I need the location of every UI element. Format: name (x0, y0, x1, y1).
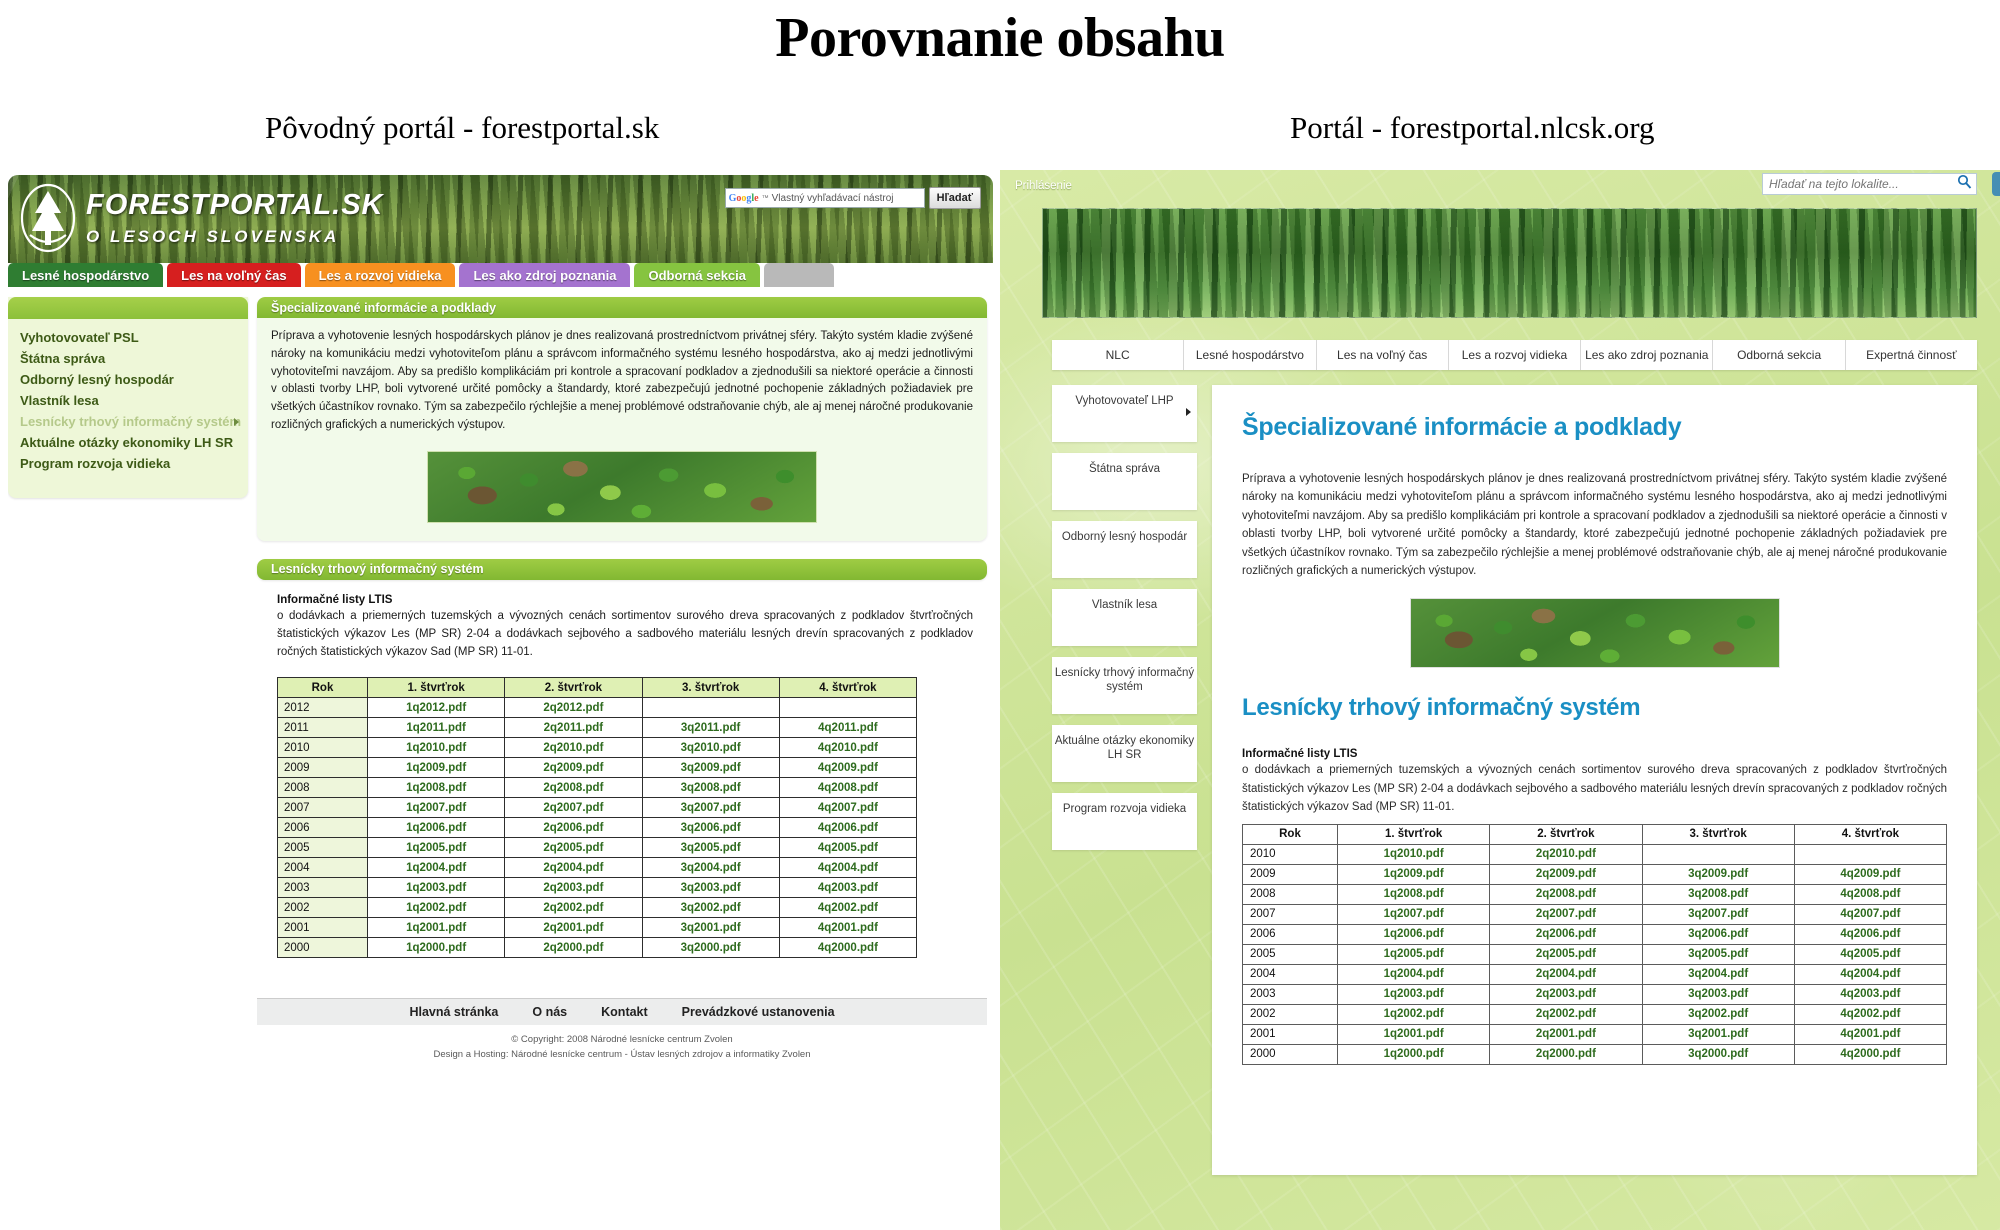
pdf-link[interactable]: 4q2001.pdf (1794, 1024, 1946, 1044)
new-nav-tab-3[interactable]: Les na voľný čas (1317, 340, 1449, 370)
pdf-link[interactable]: 3q2003.pdf (642, 878, 779, 898)
table-row: 20071q2007.pdf2q2007.pdf3q2007.pdf4q2007… (1243, 904, 1947, 924)
pdf-link[interactable]: 4q2008.pdf (779, 778, 916, 798)
pdf-link[interactable]: 3q2005.pdf (1642, 944, 1794, 964)
pdf-link[interactable]: 1q2006.pdf (1338, 924, 1490, 944)
pdf-link[interactable]: 2q2010.pdf (505, 738, 642, 758)
pdf-link[interactable]: 2q2005.pdf (1490, 944, 1642, 964)
google-search-placeholder: Vlastný vyhľadávací nástroj (772, 193, 894, 204)
pdf-link[interactable]: 3q2008.pdf (1642, 884, 1794, 904)
table-row: 20081q2008.pdf2q2008.pdf3q2008.pdf4q2008… (1243, 884, 1947, 904)
logo-title: FORESTPORTAL.SK (86, 191, 384, 220)
table-row: 20031q2003.pdf2q2003.pdf3q2003.pdf4q2003… (1243, 984, 1947, 1004)
pdf-link[interactable]: 1q2000.pdf (368, 938, 505, 958)
table-row: 20111q2011.pdf2q2011.pdf3q2011.pdf4q2011… (278, 718, 917, 738)
year-cell: 2004 (1243, 964, 1338, 984)
sidebar-item-label: Lesnícky trhový informačný systém (20, 414, 241, 429)
table-row: 20031q2003.pdf2q2003.pdf3q2003.pdf4q2003… (278, 878, 917, 898)
empty-cell (642, 698, 779, 718)
pdf-link[interactable]: 3q2009.pdf (642, 758, 779, 778)
pdf-link[interactable]: 2q2008.pdf (505, 778, 642, 798)
pdf-link[interactable]: 4q2006.pdf (1794, 924, 1946, 944)
year-cell: 2006 (278, 818, 368, 838)
new-sidebar-item-4[interactable]: Vlastník lesa (1052, 589, 1197, 646)
logo-subtitle: O LESOCH SLOVENSKA (86, 228, 384, 245)
pdf-link[interactable]: 2q2003.pdf (1490, 984, 1642, 1004)
new-col-header-4: 3. štvrťrok (1642, 824, 1794, 844)
pdf-link[interactable]: 2q2008.pdf (1490, 884, 1642, 904)
new-sidebar-item-2[interactable]: Štátna správa (1052, 453, 1197, 510)
pdf-link[interactable]: 1q2011.pdf (368, 718, 505, 738)
footer-links: Hlavná stránkaO násKontaktPrevádzkové us… (257, 999, 987, 1025)
year-cell: 2009 (278, 758, 368, 778)
page-edge-marker (1992, 172, 2000, 196)
year-cell: 2001 (1243, 1024, 1338, 1044)
pdf-link[interactable]: 2q2002.pdf (505, 898, 642, 918)
year-cell: 2008 (1243, 884, 1338, 904)
new-sidebar-item-6[interactable]: Aktuálne otázky ekonomiky LH SR (1052, 725, 1197, 782)
table-row: 20061q2006.pdf2q2006.pdf3q2006.pdf4q2006… (1243, 924, 1947, 944)
pdf-link[interactable]: 3q2004.pdf (1642, 964, 1794, 984)
old-portal-nav: Lesné hospodárstvoLes na voľný časLes a … (8, 263, 993, 287)
year-cell: 2003 (278, 878, 368, 898)
pdf-link[interactable]: 2q2000.pdf (1490, 1044, 1642, 1064)
sidebar-item-label: Štátna správa (20, 351, 105, 366)
pdf-link[interactable]: 3q2001.pdf (642, 918, 779, 938)
pdf-link[interactable]: 4q2003.pdf (779, 878, 916, 898)
new-col-header-3: 2. štvrťrok (1490, 824, 1642, 844)
pdf-link[interactable]: 4q2002.pdf (1794, 1004, 1946, 1024)
pdf-link[interactable]: 2q2001.pdf (505, 918, 642, 938)
ltis-table-old: Rok1. štvrťrok2. štvrťrok3. štvrťrok4. š… (277, 677, 917, 958)
year-cell: 2009 (1243, 864, 1338, 884)
pdf-link[interactable]: 1q2007.pdf (1338, 904, 1490, 924)
new-portal-screenshot: Prihlásenie NLCLesné hospodárstvoLes na … (1000, 170, 2000, 1230)
sidebar-item-label: Odborný lesný hospodár (20, 372, 174, 387)
year-cell: 2010 (1243, 844, 1338, 864)
pdf-link[interactable]: 2q2003.pdf (505, 878, 642, 898)
ltis-paragraph-new: o dodávkach a priemerných tuzemských a v… (1242, 761, 1947, 816)
pdf-link[interactable]: 1q2009.pdf (1338, 864, 1490, 884)
pdf-link[interactable]: 2q2004.pdf (1490, 964, 1642, 984)
table-row: 20021q2002.pdf2q2002.pdf3q2002.pdf4q2002… (278, 898, 917, 918)
new-sidebar-item-label: Vyhotovovateľ LHP (1075, 394, 1173, 408)
new-sidebar-item-label: Aktuálne otázky ekonomiky LH SR (1052, 734, 1197, 763)
pdf-link[interactable]: 2q2007.pdf (505, 798, 642, 818)
year-cell: 2002 (1243, 1004, 1338, 1024)
sidebar-cap (8, 297, 248, 319)
pdf-link[interactable]: 1q2008.pdf (1338, 884, 1490, 904)
new-nav-tab-1[interactable]: NLC (1052, 340, 1184, 370)
table-row: 20001q2000.pdf2q2000.pdf3q2000.pdf4q2000… (1243, 1044, 1947, 1064)
pdf-link[interactable]: 1q2008.pdf (368, 778, 505, 798)
pdf-link[interactable]: 3q2011.pdf (642, 718, 779, 738)
table-row: 20091q2009.pdf2q2009.pdf3q2009.pdf4q2009… (278, 758, 917, 778)
new-nav-tab-2[interactable]: Lesné hospodárstvo (1184, 340, 1316, 370)
pdf-link[interactable]: 3q2006.pdf (642, 818, 779, 838)
new-sidebar-item-7[interactable]: Program rozvoja vidieka (1052, 793, 1197, 850)
new-portal-nav: NLCLesné hospodárstvoLes na voľný časLes… (1052, 340, 1977, 370)
pdf-link[interactable]: 2q2006.pdf (505, 818, 642, 838)
year-cell: 2005 (278, 838, 368, 858)
pdf-link[interactable]: 3q2003.pdf (1642, 984, 1794, 1004)
specialized-info-heading-new: Špecializované informácie a podklady (1242, 413, 1947, 442)
new-sidebar-item-label: Vlastník lesa (1092, 598, 1157, 612)
new-nav-tab-7[interactable]: Expertná činnosť (1846, 340, 1977, 370)
sidebar-item-6[interactable]: Aktuálne otázky ekonomiky LH SR (8, 432, 248, 453)
specialized-info-paragraph-new: Príprava a vyhotovenie lesných hospodárs… (1242, 470, 1947, 580)
new-sidebar-item-label: Štátna správa (1089, 462, 1160, 476)
sidebar-item-label: Vyhotovovateľ PSL (20, 330, 139, 345)
sidebar-item-4[interactable]: Vlastník lesa (8, 390, 248, 411)
login-link[interactable]: Prihlásenie (1015, 180, 1072, 192)
ltis-table-new: Rok1. štvrťrok2. štvrťrok3. štvrťrok4. š… (1242, 824, 1947, 1065)
pdf-link[interactable]: 2q2012.pdf (505, 698, 642, 718)
table-row: 20001q2000.pdf2q2000.pdf3q2000.pdf4q2000… (278, 938, 917, 958)
pdf-link[interactable]: 2q2009.pdf (505, 758, 642, 778)
table-row: 20021q2002.pdf2q2002.pdf3q2002.pdf4q2002… (1243, 1004, 1947, 1024)
new-sidebar-item-label: Program rozvoja vidieka (1063, 802, 1186, 816)
pdf-link[interactable]: 1q2009.pdf (368, 758, 505, 778)
pdf-link[interactable]: 3q2009.pdf (1642, 864, 1794, 884)
year-cell: 2004 (278, 858, 368, 878)
footer-link-2[interactable]: O nás (532, 1005, 567, 1019)
year-cell: 2008 (278, 778, 368, 798)
new-sidebar-item-3[interactable]: Odborný lesný hospodár (1052, 521, 1197, 578)
year-cell: 2007 (278, 798, 368, 818)
pdf-link[interactable]: 1q2010.pdf (1338, 844, 1490, 864)
old-portal-sidebar: Vyhotovovateľ PSLŠtátna správaOdborný le… (8, 297, 248, 498)
pdf-link[interactable]: 4q2009.pdf (1794, 864, 1946, 884)
pdf-link[interactable]: 3q2004.pdf (642, 858, 779, 878)
new-col-header-5: 4. štvrťrok (1794, 824, 1946, 844)
pdf-link[interactable]: 4q2009.pdf (779, 758, 916, 778)
table-row: 20041q2004.pdf2q2004.pdf3q2004.pdf4q2004… (278, 858, 917, 878)
pdf-link[interactable]: 2q2011.pdf (505, 718, 642, 738)
pdf-link[interactable]: 1q2010.pdf (368, 738, 505, 758)
pdf-link[interactable]: 3q2010.pdf (642, 738, 779, 758)
forest-leaves-photo (427, 451, 817, 523)
page-title: Porovnanie obsahu (0, 6, 2000, 70)
forest-leaves-photo-new (1410, 598, 1780, 668)
pdf-link[interactable]: 1q2000.pdf (1338, 1044, 1490, 1064)
new-sidebar-item-label: Lesnícky trhový informačný systém (1052, 666, 1197, 695)
copyright-line-1: © Copyright: 2008 Národné lesnícke centr… (257, 1033, 987, 1048)
nav-tab-1[interactable]: Lesné hospodárstvo (8, 263, 163, 287)
pdf-link[interactable]: 3q2000.pdf (642, 938, 779, 958)
pdf-link[interactable]: 2q2001.pdf (1490, 1024, 1642, 1044)
old-col-header-2: 1. štvrťrok (368, 678, 505, 698)
specialized-info-heading: Špecializované informácie a podklady (257, 297, 987, 318)
pdf-link[interactable]: 1q2004.pdf (368, 858, 505, 878)
footer-link-1[interactable]: Hlavná stránka (409, 1005, 498, 1019)
old-col-header-4: 3. štvrťrok (642, 678, 779, 698)
table-row: 20071q2007.pdf2q2007.pdf3q2007.pdf4q2007… (278, 798, 917, 818)
pdf-link[interactable]: 2q2004.pdf (505, 858, 642, 878)
old-portal-screenshot: FORESTPORTAL.SK O LESOCH SLOVENSKA Googl… (8, 175, 993, 1220)
sidebar-item-2[interactable]: Štátna správa (8, 348, 248, 369)
copyright-line-2: Design a Hosting: Národné lesnícke centr… (257, 1048, 987, 1063)
old-col-header-5: 4. štvrťrok (779, 678, 916, 698)
trademark-symbol: ™ (762, 195, 769, 202)
sidebar-item-label: Vlastník lesa (20, 393, 99, 408)
new-nav-tab-5[interactable]: Les ako zdroj poznania (1581, 340, 1713, 370)
google-search-input[interactable]: Google ™ Vlastný vyhľadávací nástroj (725, 188, 925, 208)
pdf-link[interactable]: 4q2007.pdf (779, 798, 916, 818)
year-cell: 2010 (278, 738, 368, 758)
pdf-link[interactable]: 3q2002.pdf (642, 898, 779, 918)
pdf-link[interactable]: 1q2005.pdf (1338, 944, 1490, 964)
pdf-link[interactable]: 4q2010.pdf (779, 738, 916, 758)
old-col-header-1: Rok (278, 678, 368, 698)
empty-cell (1794, 844, 1946, 864)
ltis-subtitle-new: Informačné listy LTIS (1242, 748, 1947, 760)
site-logo[interactable]: FORESTPORTAL.SK O LESOCH SLOVENSKA (20, 183, 384, 253)
sidebar-item-1[interactable]: Vyhotovovateľ PSL (8, 327, 248, 348)
pdf-link[interactable]: 2q2005.pdf (505, 838, 642, 858)
specialized-info-box: Špecializované informácie a podklady Prí… (257, 297, 987, 541)
table-row: 20061q2006.pdf2q2006.pdf3q2006.pdf4q2006… (278, 818, 917, 838)
tree-logo-icon (20, 183, 76, 253)
chevron-right-icon (1186, 408, 1191, 416)
google-logo-icon: Google (729, 193, 759, 204)
pdf-link[interactable]: 1q2006.pdf (368, 818, 505, 838)
nav-tab-3[interactable]: Les a rozvoj vidieka (305, 263, 456, 287)
old-portal-header: FORESTPORTAL.SK O LESOCH SLOVENSKA Googl… (8, 175, 993, 263)
pdf-link[interactable]: 2q2010.pdf (1490, 844, 1642, 864)
google-search-widget[interactable]: Google ™ Vlastný vyhľadávací nástroj Hľa… (725, 187, 981, 209)
year-cell: 2003 (1243, 984, 1338, 1004)
pdf-link[interactable]: 1q2012.pdf (368, 698, 505, 718)
year-cell: 2005 (1243, 944, 1338, 964)
new-nav-tab-4[interactable]: Les a rozvoj vidieka (1449, 340, 1581, 370)
forest-banner-image (1042, 208, 1977, 318)
pdf-link[interactable]: 1q2001.pdf (368, 918, 505, 938)
pdf-link[interactable]: 1q2003.pdf (1338, 984, 1490, 1004)
nav-tab-5[interactable]: Odborná sekcia (634, 263, 760, 287)
pdf-link[interactable]: 3q2008.pdf (642, 778, 779, 798)
table-row: 20011q2001.pdf2q2001.pdf3q2001.pdf4q2001… (1243, 1024, 1947, 1044)
new-sidebar-item-label: Odborný lesný hospodár (1062, 530, 1187, 544)
pdf-link[interactable]: 1q2005.pdf (368, 838, 505, 858)
site-search-box[interactable] (1762, 173, 1977, 195)
ltis-paragraph: o dodávkach a priemerných tuzemských a v… (277, 608, 973, 661)
pdf-link[interactable]: 3q2006.pdf (1642, 924, 1794, 944)
pdf-link[interactable]: 3q2007.pdf (1642, 904, 1794, 924)
year-cell: 2001 (278, 918, 368, 938)
table-row: 20041q2004.pdf2q2004.pdf3q2004.pdf4q2004… (1243, 964, 1947, 984)
year-cell: 2000 (278, 938, 368, 958)
search-button[interactable]: Hľadať (929, 187, 981, 209)
nav-tab-4[interactable]: Les ako zdroj poznania (459, 263, 630, 287)
ltis-subtitle: Informačné listy LTIS (277, 594, 973, 606)
pdf-link[interactable]: 3q2007.pdf (642, 798, 779, 818)
new-col-header-2: 1. štvrťrok (1338, 824, 1490, 844)
old-col-header-3: 2. štvrťrok (505, 678, 642, 698)
year-cell: 2011 (278, 718, 368, 738)
pdf-link[interactable]: 1q2001.pdf (1338, 1024, 1490, 1044)
empty-cell (779, 698, 916, 718)
year-cell: 2002 (278, 898, 368, 918)
footer-link-4[interactable]: Prevádzkové ustanovenia (682, 1005, 835, 1019)
footer-link-3[interactable]: Kontakt (601, 1005, 648, 1019)
new-sidebar-item-1[interactable]: Vyhotovovateľ LHP (1052, 385, 1197, 442)
table-row: 20101q2010.pdf2q2010.pdf (1243, 844, 1947, 864)
nav-tab-6[interactable] (764, 263, 834, 287)
pdf-link[interactable]: 4q2002.pdf (779, 898, 916, 918)
nav-tab-2[interactable]: Les na voľný čas (167, 263, 300, 287)
pdf-link[interactable]: 4q2000.pdf (779, 938, 916, 958)
table-row: 20051q2005.pdf2q2005.pdf3q2005.pdf4q2005… (278, 838, 917, 858)
pdf-link[interactable]: 4q2003.pdf (1794, 984, 1946, 1004)
pdf-link[interactable]: 4q2011.pdf (779, 718, 916, 738)
sidebar-item-3[interactable]: Odborný lesný hospodár (8, 369, 248, 390)
new-portal-main: Špecializované informácie a podklady Prí… (1212, 385, 1977, 1175)
pdf-link[interactable]: 1q2007.pdf (368, 798, 505, 818)
pdf-link[interactable]: 1q2002.pdf (368, 898, 505, 918)
pdf-link[interactable]: 2q2007.pdf (1490, 904, 1642, 924)
year-cell: 2012 (278, 698, 368, 718)
pdf-link[interactable]: 4q2007.pdf (1794, 904, 1946, 924)
table-row: 20121q2012.pdf2q2012.pdf (278, 698, 917, 718)
pdf-link[interactable]: 4q2004.pdf (779, 858, 916, 878)
pdf-link[interactable]: 3q2001.pdf (1642, 1024, 1794, 1044)
sidebar-item-7[interactable]: Program rozvoja vidieka (8, 453, 248, 474)
pdf-link[interactable]: 3q2005.pdf (642, 838, 779, 858)
pdf-link[interactable]: 1q2004.pdf (1338, 964, 1490, 984)
site-search-input[interactable] (1767, 176, 1947, 192)
old-portal-main: Špecializované informácie a podklady Prí… (257, 297, 987, 1063)
pdf-link[interactable]: 2q2009.pdf (1490, 864, 1642, 884)
pdf-link[interactable]: 2q2002.pdf (1490, 1004, 1642, 1024)
ltis-heading: Lesnícky trhový informačný systém (257, 559, 987, 580)
empty-cell (1642, 844, 1794, 864)
table-row: 20091q2009.pdf2q2009.pdf3q2009.pdf4q2009… (1243, 864, 1947, 884)
ltis-box: Lesnícky trhový informačný systém (257, 559, 987, 580)
pdf-link[interactable]: 4q2005.pdf (1794, 944, 1946, 964)
new-nav-tab-6[interactable]: Odborná sekcia (1713, 340, 1845, 370)
year-cell: 2000 (1243, 1044, 1338, 1064)
sidebar-item-label: Aktuálne otázky ekonomiky LH SR (20, 435, 233, 450)
pdf-link[interactable]: 2q2006.pdf (1490, 924, 1642, 944)
sidebar-item-5[interactable]: Lesnícky trhový informačný systém (8, 411, 248, 432)
sidebar-item-label: Program rozvoja vidieka (20, 456, 170, 471)
pdf-link[interactable]: 3q2000.pdf (1642, 1044, 1794, 1064)
magnifier-icon[interactable] (1957, 174, 1972, 194)
ltis-heading-new: Lesnícky trhový informačný systém (1242, 694, 1947, 722)
pdf-link[interactable]: 2q2000.pdf (505, 938, 642, 958)
pdf-link[interactable]: 4q2008.pdf (1794, 884, 1946, 904)
specialized-info-paragraph: Príprava a vyhotovenie lesných hospodárs… (271, 328, 973, 435)
pdf-link[interactable]: 4q2006.pdf (779, 818, 916, 838)
new-col-header-1: Rok (1243, 824, 1338, 844)
table-row: 20081q2008.pdf2q2008.pdf3q2008.pdf4q2008… (278, 778, 917, 798)
pdf-link[interactable]: 3q2002.pdf (1642, 1004, 1794, 1024)
pdf-link[interactable]: 4q2001.pdf (779, 918, 916, 938)
year-cell: 2007 (1243, 904, 1338, 924)
year-cell: 2006 (1243, 924, 1338, 944)
chevron-right-icon (234, 418, 239, 426)
table-row: 20051q2005.pdf2q2005.pdf3q2005.pdf4q2005… (1243, 944, 1947, 964)
pdf-link[interactable]: 1q2002.pdf (1338, 1004, 1490, 1024)
pdf-link[interactable]: 4q2004.pdf (1794, 964, 1946, 984)
caption-right-portal: Portál - forestportal.nlcsk.org (1290, 110, 1654, 146)
pdf-link[interactable]: 4q2005.pdf (779, 838, 916, 858)
table-row: 20011q2001.pdf2q2001.pdf3q2001.pdf4q2001… (278, 918, 917, 938)
table-row: 20101q2010.pdf2q2010.pdf3q2010.pdf4q2010… (278, 738, 917, 758)
new-portal-sidebar: Vyhotovovateľ LHPŠtátna správaOdborný le… (1052, 385, 1197, 861)
pdf-link[interactable]: 4q2000.pdf (1794, 1044, 1946, 1064)
pdf-link[interactable]: 1q2003.pdf (368, 878, 505, 898)
caption-left-portal: Pôvodný portál - forestportal.sk (265, 110, 659, 146)
new-sidebar-item-5[interactable]: Lesnícky trhový informačný systém (1052, 657, 1197, 714)
